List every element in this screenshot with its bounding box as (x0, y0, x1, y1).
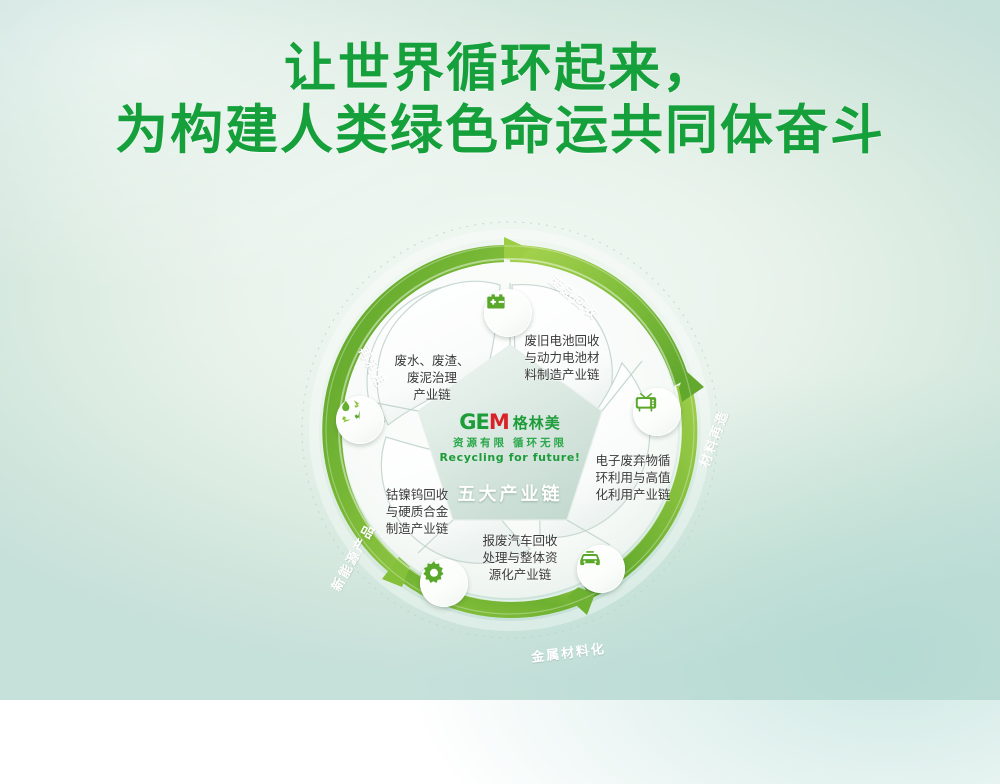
title-line-2: 为构建人类绿色命运共同体奋斗 (0, 100, 1000, 162)
gem-logo: GEM 格林美 资源有限 循环无限 Recycling for future! (430, 410, 590, 464)
petal-label-e-waste: 电子废弃物循 环利用与高值 化利用产业链 (578, 453, 688, 504)
logo-slogan-cn: 资源有限 循环无限 (430, 435, 590, 450)
logo-wordmark-row: GEM 格林美 (430, 410, 590, 434)
page-title: 让世界循环起来， 为构建人类绿色命运共同体奋斗 (0, 38, 1000, 162)
logo-gem-text: GEM (459, 410, 509, 434)
page-background: 让世界循环起来， 为构建人类绿色命运共同体奋斗 (0, 0, 1000, 700)
center-subtitle: 五大产业链 (430, 480, 590, 506)
gear-icon-bubble[interactable] (420, 559, 468, 607)
tv-icon-bubble[interactable] (633, 388, 681, 436)
logo-slogan-en: Recycling for future! (430, 451, 590, 464)
car-icon-bubble[interactable] (577, 545, 625, 593)
title-line-1: 让世界循环起来， (0, 38, 1000, 100)
battery-icon-bubble[interactable] (484, 289, 532, 337)
tv-icon (633, 388, 659, 414)
battery-icon (484, 289, 510, 315)
circular-industry-chain-diagram: 废旧电池回收 与动力电池材 料制造产业链 电子废弃物循 环利用与高值 化利用产业… (290, 215, 730, 665)
logo-chinese-name: 格林美 (513, 412, 561, 433)
recycle-drop-icon-bubble[interactable] (336, 396, 384, 444)
recycle-drop-icon (336, 396, 364, 424)
petal-label-battery: 废旧电池回收 与动力电池材 料制造产业链 (502, 333, 622, 384)
car-icon (577, 545, 603, 571)
gear-icon (420, 559, 448, 587)
petal-label-end-of-life-vehicle: 报废汽车回收 处理与整体资 源化产业链 (460, 533, 580, 584)
